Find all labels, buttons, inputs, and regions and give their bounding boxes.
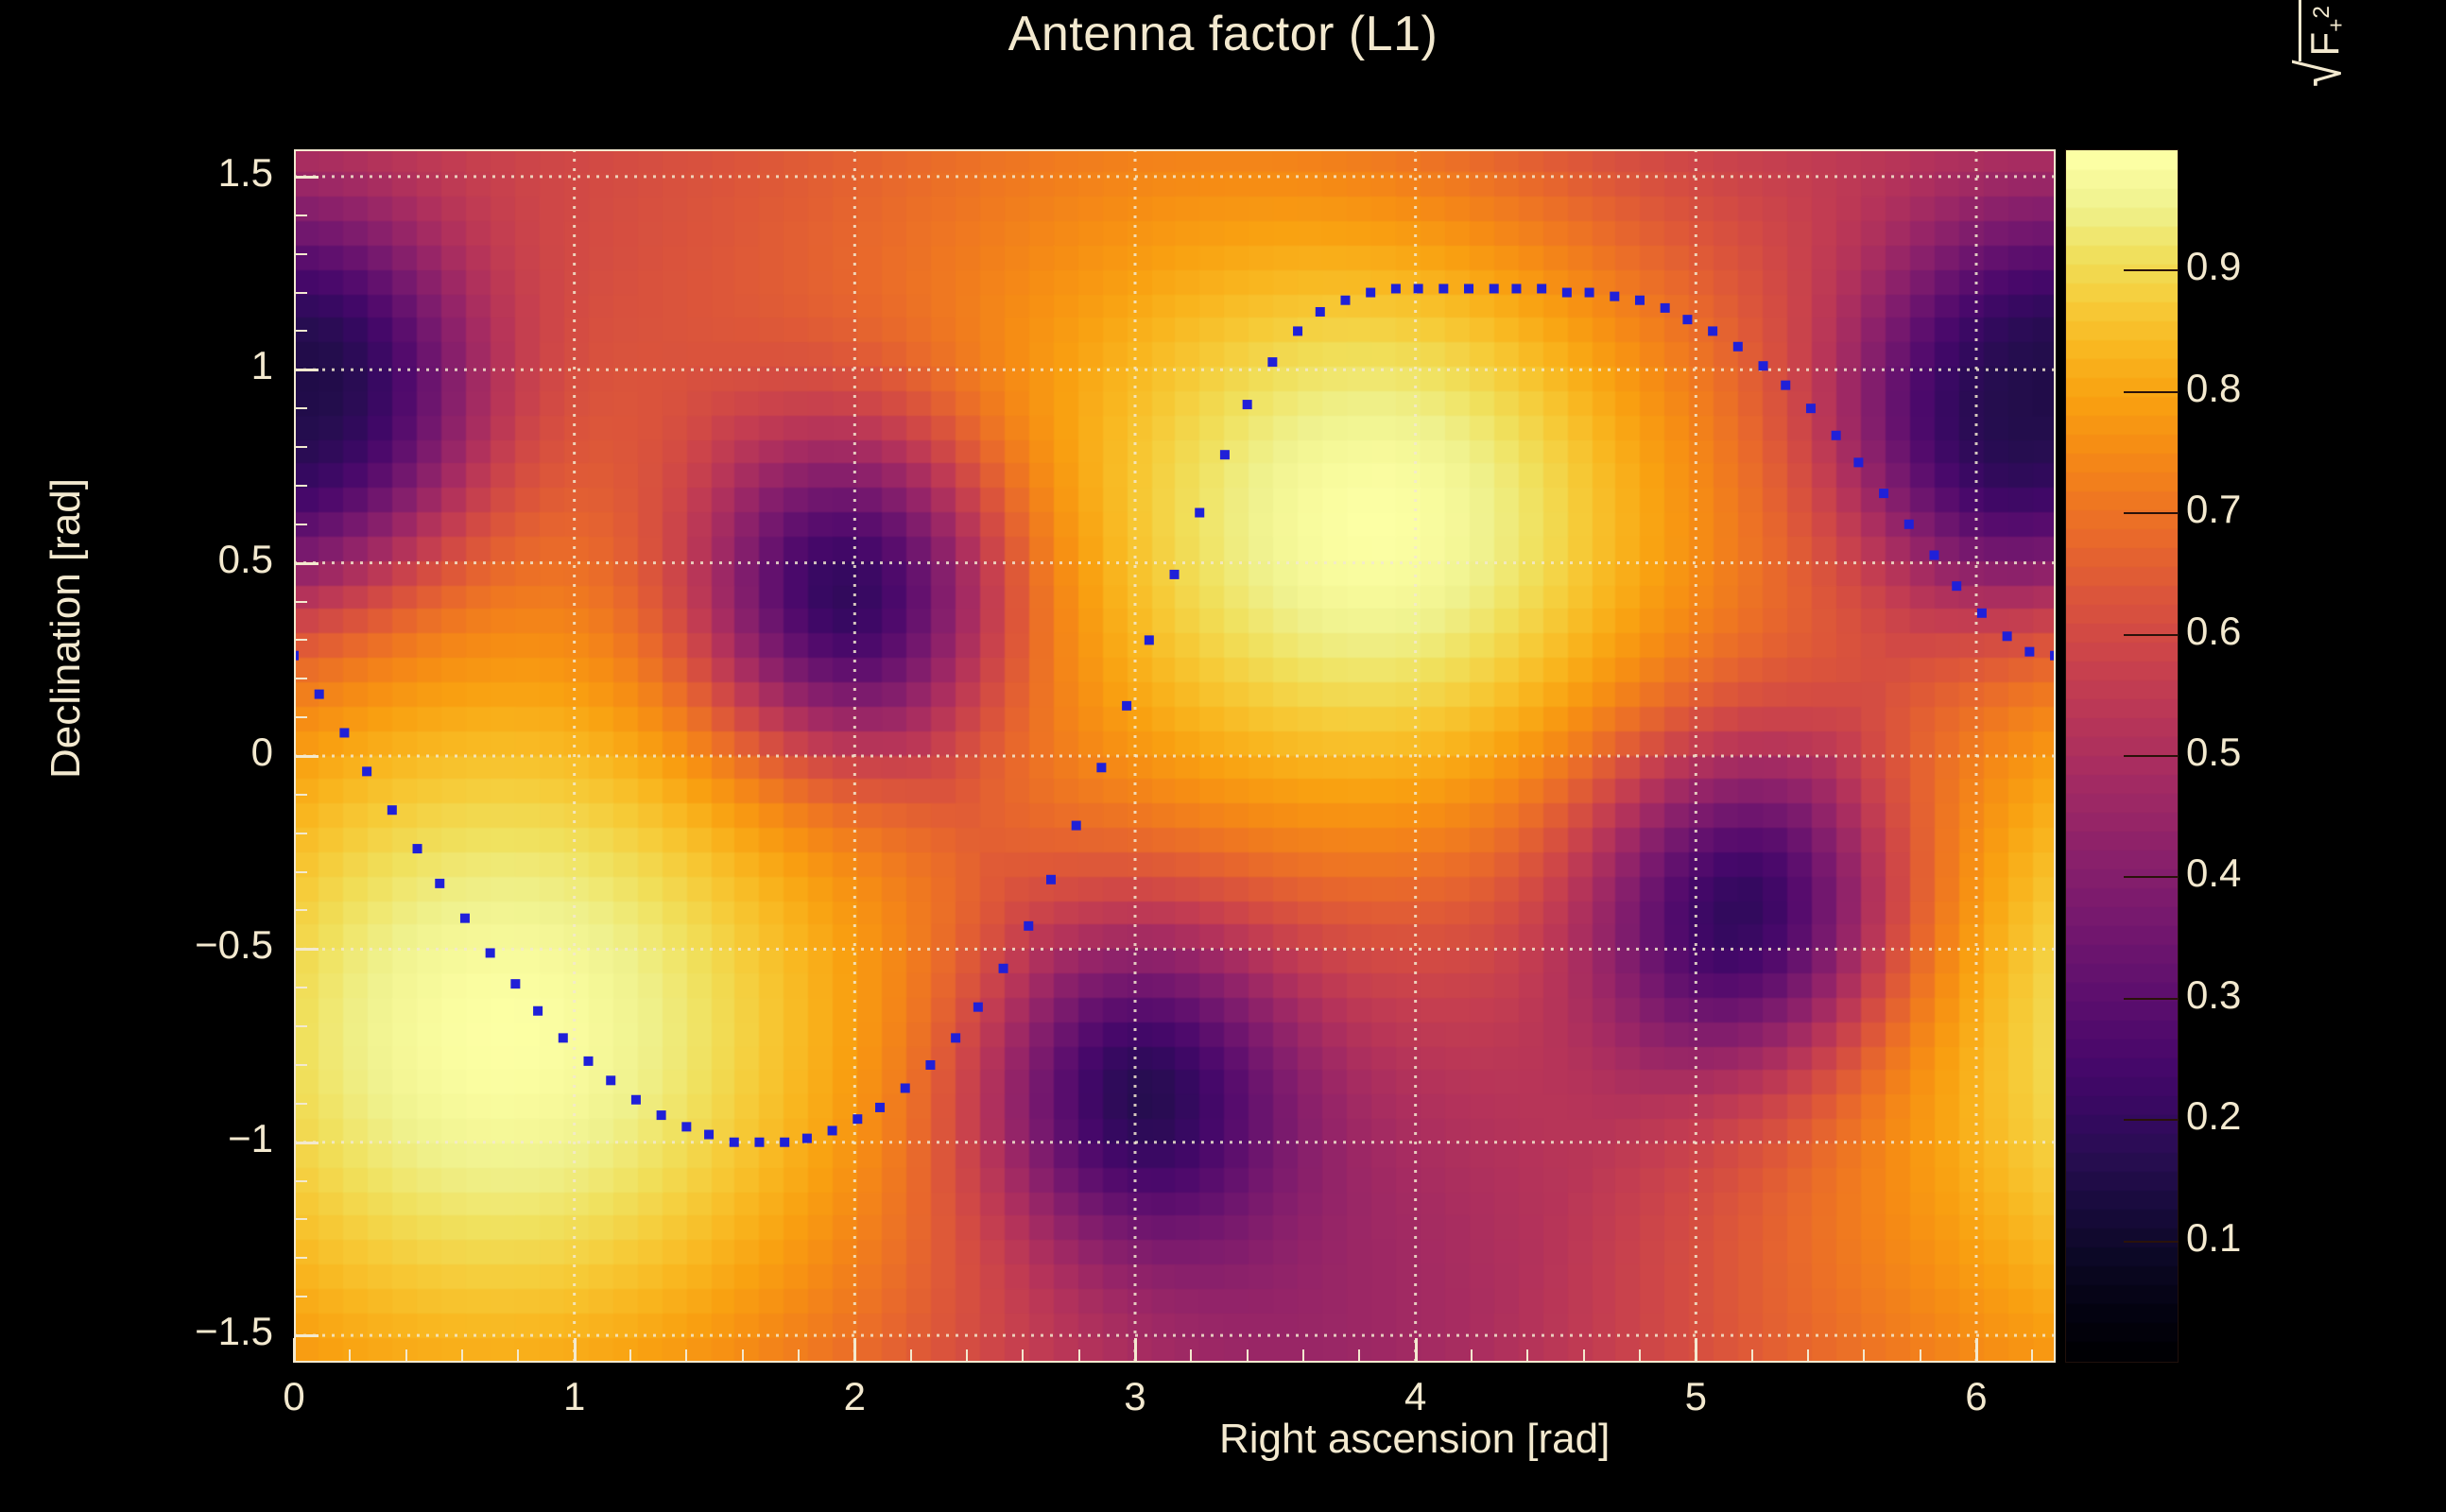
colorbar-axis-title: √F+2 + F×2 xyxy=(2299,87,2446,137)
x-axis-minor-tick xyxy=(1471,1349,1473,1363)
y-axis-minor-tick xyxy=(294,1142,307,1143)
x-axis-minor-tick xyxy=(798,1349,800,1363)
sqrt-radicand: F+2 + F×2 xyxy=(2299,0,2349,61)
y-axis-minor-tick xyxy=(294,833,307,834)
colorbar-tick-label: 0.1 xyxy=(2186,1215,2241,1261)
x-axis-minor-tick xyxy=(1526,1349,1528,1363)
heatmap-image xyxy=(294,149,2056,1363)
x-axis-minor-tick xyxy=(1134,1349,1136,1363)
y-axis-minor-tick xyxy=(294,1334,307,1336)
x-axis-minor-tick xyxy=(1863,1349,1865,1363)
x-axis-minor-tick xyxy=(405,1349,407,1363)
y-axis-minor-tick xyxy=(294,562,307,564)
colorbar-tick xyxy=(2124,998,2179,1000)
x-axis-minor-tick xyxy=(1639,1349,1641,1363)
x-axis-minor-tick xyxy=(1975,1349,1977,1363)
colorbar[interactable] xyxy=(2065,149,2179,1363)
x-axis-minor-tick xyxy=(1583,1349,1585,1363)
y-axis-minor-tick xyxy=(294,948,307,950)
y-axis-minor-tick xyxy=(294,292,307,294)
x-axis-minor-tick xyxy=(1920,1349,1921,1363)
colorbar-tick xyxy=(2124,269,2179,271)
x-axis-minor-tick xyxy=(1247,1349,1249,1363)
y-axis-minor-tick xyxy=(294,601,307,603)
x-axis-tick-label: 1 xyxy=(518,1374,631,1419)
colorbar-tick xyxy=(2124,876,2179,878)
colorbar-tick-label: 0.4 xyxy=(2186,850,2241,896)
x-axis-minor-tick xyxy=(2031,1349,2033,1363)
x-axis-minor-tick xyxy=(1807,1349,1809,1363)
y-axis-minor-tick xyxy=(294,485,307,487)
y-axis-minor-tick xyxy=(294,1180,307,1182)
y-axis-minor-tick xyxy=(294,330,307,332)
colorbar-tick-label: 0.2 xyxy=(2186,1093,2241,1139)
x-axis-minor-tick xyxy=(742,1349,744,1363)
y-axis-tick-label: 1.5 xyxy=(218,150,273,196)
x-axis-minor-tick xyxy=(293,1349,295,1363)
y-axis-minor-tick xyxy=(294,1257,307,1259)
y-axis-tick-label: −1 xyxy=(228,1116,273,1161)
colorbar-tick xyxy=(2124,512,2179,514)
colorbar-tick-label: 0.8 xyxy=(2186,366,2241,411)
x-axis-minor-tick xyxy=(1695,1349,1697,1363)
heatmap-plot-area[interactable] xyxy=(294,149,2056,1363)
y-axis-minor-tick xyxy=(294,446,307,448)
y-axis-minor-tick xyxy=(294,871,307,873)
x-axis-minor-tick xyxy=(966,1349,968,1363)
y-axis-minor-tick xyxy=(294,1218,307,1220)
x-axis-minor-tick xyxy=(1415,1349,1417,1363)
y-axis-minor-tick xyxy=(294,909,307,911)
page-title: Antenna factor (L1) xyxy=(0,6,2446,62)
colorbar-tick xyxy=(2124,1241,2179,1243)
x-axis-tick-label: 6 xyxy=(1920,1374,2033,1419)
colorbar-tick-label: 0.3 xyxy=(2186,972,2241,1018)
y-axis-tick-label: 0.5 xyxy=(218,537,273,582)
root-canvas: Antenna factor (L1) 1.510.50−0.5−1−1.5 0… xyxy=(0,0,2446,1512)
y-axis-tick-label: 1 xyxy=(251,343,273,388)
y-axis-minor-tick xyxy=(294,524,307,525)
x-axis-minor-tick xyxy=(1751,1349,1753,1363)
colorbar-tick xyxy=(2124,755,2179,757)
y-axis-minor-tick xyxy=(294,639,307,641)
x-axis-minor-tick xyxy=(574,1349,576,1363)
x-axis-tick-label: 5 xyxy=(1639,1374,1752,1419)
y-axis-minor-tick xyxy=(294,716,307,718)
y-axis-minor-tick xyxy=(294,987,307,988)
y-axis-tick-label: −0.5 xyxy=(195,922,273,968)
y-axis-minor-tick xyxy=(294,253,307,255)
x-axis-minor-tick xyxy=(1302,1349,1304,1363)
colorbar-tick xyxy=(2124,1119,2179,1121)
y-axis-title: Declination [rad] xyxy=(43,383,90,874)
y-axis-minor-tick xyxy=(294,1103,307,1105)
x-axis-tick-label: 2 xyxy=(798,1374,911,1419)
y-axis-minor-tick xyxy=(294,1296,307,1297)
y-axis-tick-label: −1.5 xyxy=(195,1309,273,1354)
y-axis-minor-tick xyxy=(294,407,307,409)
x-axis-minor-tick xyxy=(517,1349,519,1363)
colorbar-tick xyxy=(2124,391,2179,393)
y-axis-minor-tick xyxy=(294,755,307,757)
colorbar-tick-label: 0.6 xyxy=(2186,609,2241,654)
x-axis-minor-tick xyxy=(1022,1349,1024,1363)
x-axis-tick-label: 4 xyxy=(1359,1374,1473,1419)
x-axis-minor-tick xyxy=(349,1349,351,1363)
colorbar-tick-label: 0.7 xyxy=(2186,487,2241,532)
colorbar-tick xyxy=(2124,634,2179,636)
x-axis-minor-tick xyxy=(910,1349,912,1363)
x-axis-minor-tick xyxy=(1190,1349,1192,1363)
x-axis-tick-label: 0 xyxy=(237,1374,351,1419)
x-axis-minor-tick xyxy=(461,1349,463,1363)
x-axis-minor-tick xyxy=(1078,1349,1080,1363)
colorbar-tick-label: 0.9 xyxy=(2186,244,2241,289)
x-axis-minor-tick xyxy=(853,1349,855,1363)
y-axis-minor-tick xyxy=(294,215,307,216)
y-axis-minor-tick xyxy=(294,1025,307,1027)
y-axis-minor-tick xyxy=(294,678,307,679)
sqrt-sign: √ xyxy=(2292,60,2354,87)
x-axis-minor-tick xyxy=(629,1349,631,1363)
colorbar-tick-label: 0.5 xyxy=(2186,730,2241,775)
x-axis-minor-tick xyxy=(1358,1349,1360,1363)
y-axis-minor-tick xyxy=(294,369,307,370)
y-axis-minor-tick xyxy=(294,1064,307,1066)
x-axis-minor-tick xyxy=(685,1349,687,1363)
y-axis-minor-tick xyxy=(294,794,307,796)
x-axis-tick-label: 3 xyxy=(1078,1374,1192,1419)
y-axis-minor-tick xyxy=(294,176,307,178)
x-axis-title: Right ascension [rad] xyxy=(1219,1416,2070,1463)
y-axis-tick-label: 0 xyxy=(251,730,273,775)
